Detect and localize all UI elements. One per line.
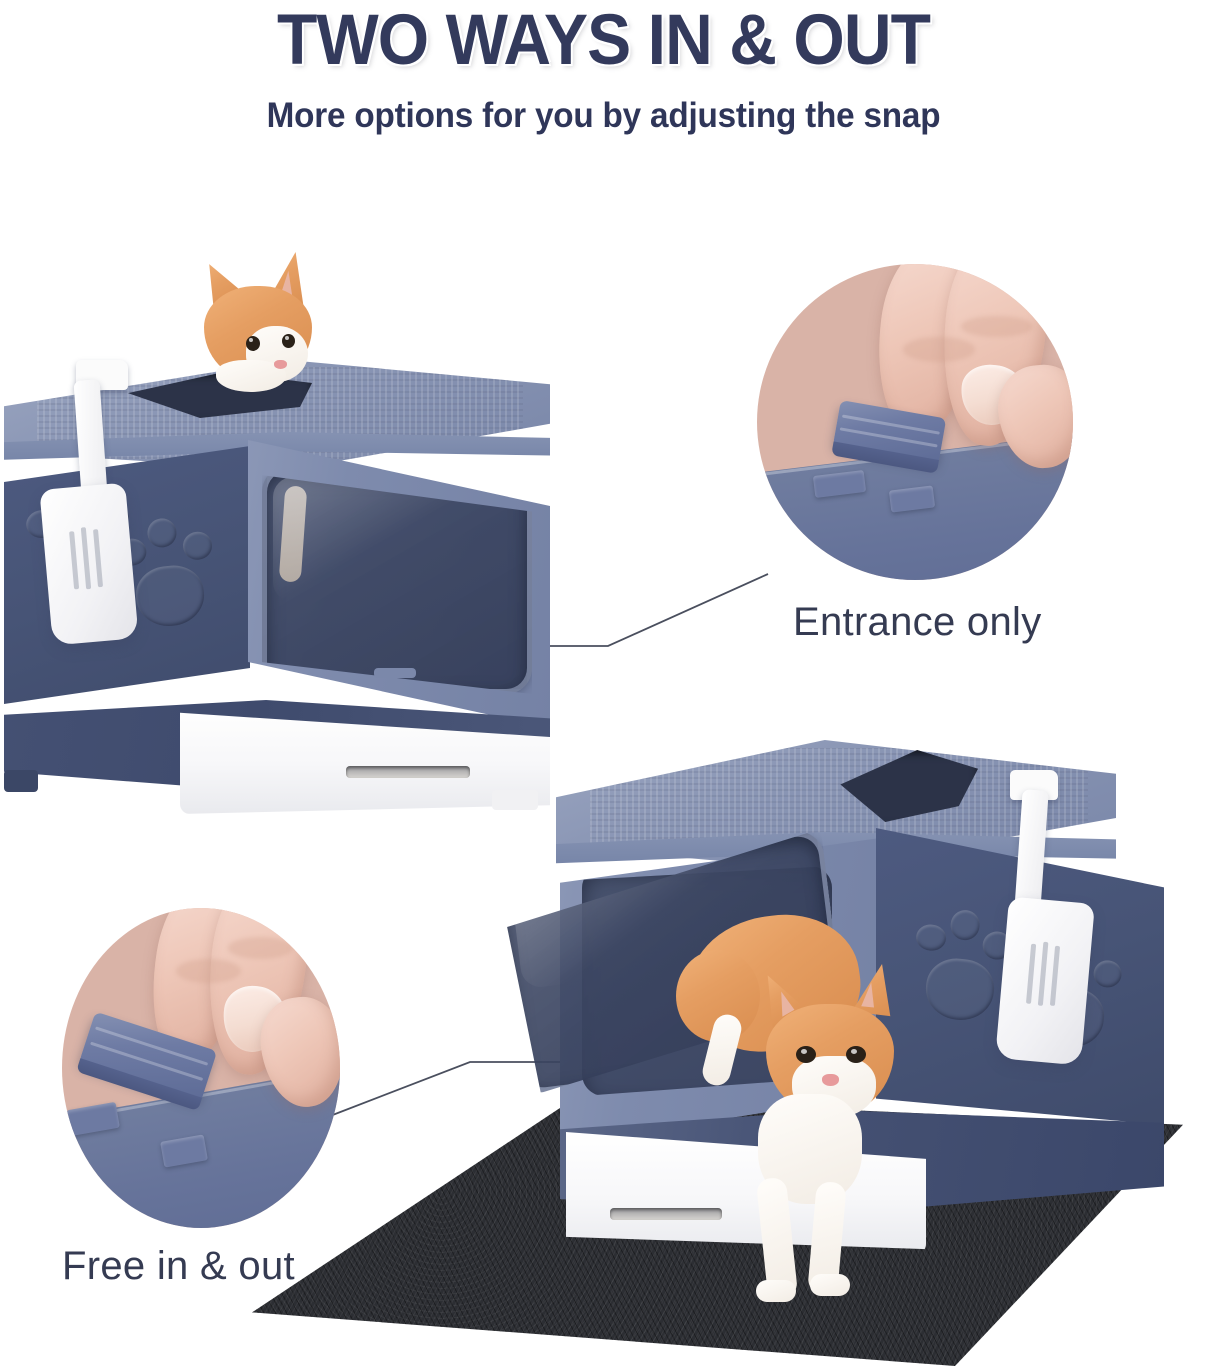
cat-eye-left xyxy=(796,1046,816,1063)
litter-scoop xyxy=(36,358,156,658)
callout-free-in-and-out: Free in & out xyxy=(62,908,340,1228)
cat-walking-out xyxy=(670,896,930,1296)
cat-paw xyxy=(756,1280,796,1302)
drawer-handle-slot xyxy=(346,766,470,778)
scoop-blade xyxy=(39,483,138,646)
header: TWO WAYS IN & OUT More options for you b… xyxy=(0,0,1207,160)
page-subtitle: More options for you by adjusting the sn… xyxy=(30,96,1177,136)
product-image-litter-box-front-entry xyxy=(510,740,1207,1280)
cat-eye-left xyxy=(246,336,260,351)
scoop-blade xyxy=(995,897,1095,1066)
cat-nose xyxy=(274,360,287,369)
callout-entrance-only: Entrance only xyxy=(757,264,1073,580)
cat-paw xyxy=(810,1274,850,1296)
cat-eye-right xyxy=(846,1046,866,1063)
callout-label: Entrance only xyxy=(793,600,1042,644)
promo-canvas: TWO WAYS IN & OUT More options for you b… xyxy=(0,0,1207,1372)
cat-peeking-top xyxy=(188,252,348,412)
cat-nose xyxy=(822,1074,839,1086)
page-title: TWO WAYS IN & OUT xyxy=(42,4,1165,78)
foot xyxy=(4,770,38,792)
callout-photo xyxy=(757,264,1073,580)
hand-lifting-snap-icon xyxy=(145,908,340,1151)
litter-scoop xyxy=(974,770,1104,1070)
callout-label: Free in & out xyxy=(62,1244,295,1288)
callout-photo xyxy=(62,908,340,1228)
product-image-litter-box-top-entry xyxy=(0,300,570,820)
hand-pressing-snap-icon xyxy=(864,264,1073,517)
door-latch-nub xyxy=(374,668,416,678)
